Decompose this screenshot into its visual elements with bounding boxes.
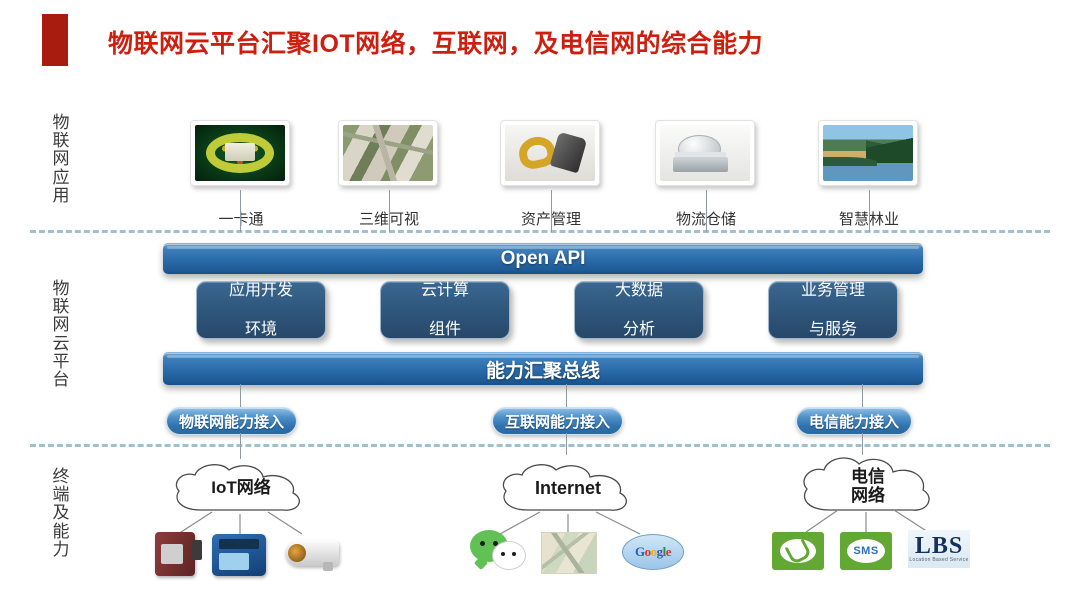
app-connector-line xyxy=(240,190,241,232)
capability-label: 业务管理 与服务 xyxy=(801,261,865,359)
band-char: 云 xyxy=(44,335,78,353)
wechat-icon xyxy=(470,530,526,570)
capability-label: 云计算 组件 xyxy=(421,261,469,359)
access-pill-internet[interactable]: 互联网能力接入 xyxy=(492,407,623,435)
band-char: 网 xyxy=(44,316,78,334)
cloud-internet[interactable]: Internet xyxy=(490,460,646,520)
band-label-terminal-capability: 终 端 及 能 力 xyxy=(44,468,78,559)
access-pill-iot[interactable]: 物联网能力接入 xyxy=(166,407,297,435)
sms-label: SMS xyxy=(853,545,878,557)
access-pill-label: 物联网能力接入 xyxy=(179,411,284,432)
wechat-eye xyxy=(480,541,485,546)
wechat-eye xyxy=(512,552,516,556)
cloud-label: Internet xyxy=(535,478,601,498)
sms-bubble: SMS xyxy=(847,539,885,563)
card-reader-icon xyxy=(155,532,195,576)
app-thumbnail-frame xyxy=(190,120,290,186)
capability-box-app-dev[interactable]: 应用开发 环境 xyxy=(196,281,326,339)
capability-box-cloud-computing[interactable]: 云计算 组件 xyxy=(380,281,510,339)
bus-connector-line xyxy=(862,384,863,408)
access-pill-telecom[interactable]: 电信能力接入 xyxy=(796,407,912,435)
access-pill-label: 互联网能力接入 xyxy=(505,411,610,432)
slide-root: 物联网云平台汇聚IOT网络，互联网，及电信网的综合能力 物 联 网 应 用 物 … xyxy=(0,0,1080,608)
capability-box-business-service[interactable]: 业务管理 与服务 xyxy=(768,281,898,339)
smartcard-campus-image xyxy=(195,125,285,181)
band-label-iot-application: 物 联 网 应 用 xyxy=(44,114,78,205)
cloud-label-line1: 电信 xyxy=(851,467,885,486)
separator-platform-terminal xyxy=(30,444,1050,447)
access-pill-label: 电信能力接入 xyxy=(809,411,899,432)
pill-connector-line xyxy=(240,433,241,459)
title-accent-bar xyxy=(42,14,68,66)
capability-bus-bar[interactable]: 能力汇聚总线 xyxy=(163,352,923,385)
device-wechat[interactable] xyxy=(470,530,526,570)
logistics-globe-image xyxy=(660,125,750,181)
device-card-reader[interactable] xyxy=(155,532,195,576)
cloud-iot-network[interactable]: IoT网络 xyxy=(163,460,319,520)
capability-line1: 业务管理 xyxy=(801,281,865,301)
capability-line1: 应用开发 xyxy=(229,281,293,301)
device-map-thumbnail[interactable] xyxy=(541,532,597,574)
app-connector-line xyxy=(389,190,390,232)
bus-bar-label: 能力汇聚总线 xyxy=(486,356,600,383)
capability-line2: 组件 xyxy=(421,320,469,340)
payment-terminal-icon xyxy=(212,534,266,576)
app-connector-line xyxy=(551,190,552,232)
device-lbs[interactable]: LBS Location Based Service xyxy=(908,530,970,568)
band-char: 平 xyxy=(44,353,78,371)
band-char: 及 xyxy=(44,504,78,522)
band-char: 物 xyxy=(44,114,78,132)
google-letter: G xyxy=(635,544,645,560)
band-char: 应 xyxy=(44,169,78,187)
band-char: 网 xyxy=(44,150,78,168)
app-item-smartcard[interactable]: 一卡通 xyxy=(190,120,292,229)
app-thumbnail-frame xyxy=(500,120,600,186)
google-logo-icon: Google xyxy=(622,534,684,570)
capability-line2: 环境 xyxy=(229,320,293,340)
handset-shape xyxy=(784,537,812,565)
capability-label: 大数据 分析 xyxy=(615,261,663,359)
bus-connector-line xyxy=(240,384,241,408)
pill-connector-line xyxy=(566,433,567,455)
device-payment-terminal[interactable] xyxy=(212,534,266,576)
capability-label: 应用开发 环境 xyxy=(229,261,293,359)
cloud-label-line2: 网络 xyxy=(851,486,885,505)
device-voice-call[interactable] xyxy=(772,532,824,570)
app-connector-line xyxy=(706,190,707,232)
band-char: 能 xyxy=(44,523,78,541)
band-char: 终 xyxy=(44,468,78,486)
cloud-label: 电信 网络 xyxy=(851,467,885,505)
band-char: 端 xyxy=(44,486,78,504)
band-char: 联 xyxy=(44,132,78,150)
band-char: 物 xyxy=(44,280,78,298)
aerial-map-image xyxy=(343,125,433,181)
voice-call-icon xyxy=(772,532,824,570)
lbs-sublabel: Location Based Service xyxy=(909,557,968,563)
ip-camera-icon xyxy=(285,540,339,566)
app-caption: 一卡通 xyxy=(190,208,292,229)
lbs-label: LBS xyxy=(915,535,963,558)
device-google[interactable]: Google xyxy=(622,534,684,570)
phone-bubble xyxy=(780,539,816,563)
map-thumbnail-icon xyxy=(541,532,597,574)
google-letter: e xyxy=(666,544,671,560)
capability-box-big-data[interactable]: 大数据 分析 xyxy=(574,281,704,339)
capability-line2: 与服务 xyxy=(801,320,865,340)
device-ip-camera[interactable] xyxy=(285,540,339,566)
capability-line1: 云计算 xyxy=(421,281,469,301)
bus-connector-line xyxy=(566,384,567,408)
app-thumbnail-frame xyxy=(338,120,438,186)
open-api-label: Open API xyxy=(501,248,586,270)
keys-image xyxy=(505,125,595,181)
band-char: 力 xyxy=(44,541,78,559)
page-title: 物联网云平台汇聚IOT网络，互联网，及电信网的综合能力 xyxy=(108,24,1008,60)
band-char: 联 xyxy=(44,298,78,316)
device-sms[interactable]: SMS xyxy=(840,532,892,570)
capability-line1: 大数据 xyxy=(615,281,663,301)
band-char: 用 xyxy=(44,187,78,205)
app-thumbnail-frame xyxy=(655,120,755,186)
band-char: 台 xyxy=(44,371,78,389)
cloud-telecom-network[interactable]: 电信 网络 xyxy=(790,452,946,522)
cloud-label: IoT网络 xyxy=(211,478,271,497)
wechat-bubble-white xyxy=(492,541,526,570)
app-connector-line xyxy=(869,190,870,232)
band-label-iot-cloud-platform: 物 联 网 云 平 台 xyxy=(44,280,78,389)
capability-line2: 分析 xyxy=(615,320,663,340)
separator-application-platform xyxy=(30,230,1050,233)
app-thumbnail-frame xyxy=(818,120,918,186)
lbs-logo-icon: LBS Location Based Service xyxy=(908,530,970,568)
forest-river-image xyxy=(823,125,913,181)
wechat-eye xyxy=(501,552,505,556)
sms-icon: SMS xyxy=(840,532,892,570)
